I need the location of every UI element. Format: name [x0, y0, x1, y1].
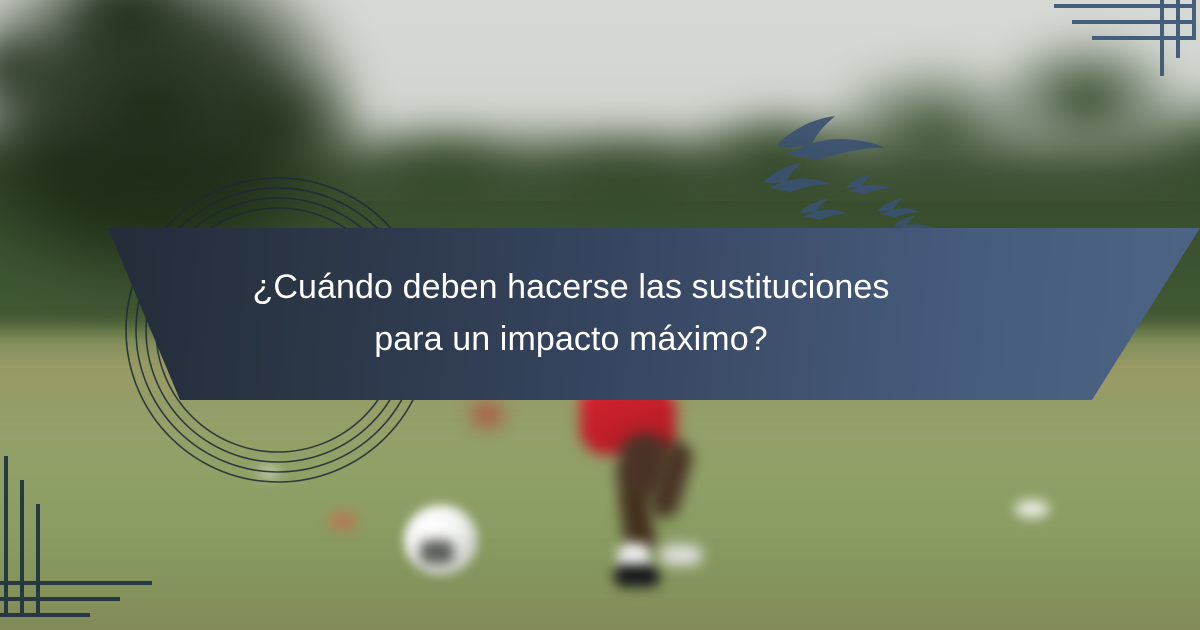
corner-bracket-top-right	[1020, 0, 1200, 96]
bird-icon	[878, 198, 922, 217]
headline-line-2: para un impacto máximo?	[374, 314, 767, 366]
bird-icon	[776, 116, 885, 160]
player-back-boot	[660, 545, 702, 565]
banner-text-block: ¿Cuándo deben hacerse las sustituciones …	[0, 228, 1200, 400]
bird-icon	[800, 199, 849, 220]
field-marker-right	[1015, 500, 1049, 518]
bird-icon	[763, 163, 832, 193]
field-marker-left	[258, 466, 280, 478]
training-cone	[330, 512, 356, 530]
player-boot	[614, 565, 660, 587]
headline-line-1: ¿Cuándo deben hacerse las sustituciones	[252, 262, 889, 314]
birds-decoration	[762, 122, 952, 238]
bird-icon	[846, 174, 892, 194]
headline-banner: ¿Cuándo deben hacerse las sustituciones …	[0, 228, 1200, 400]
soccer-ball-panel	[420, 540, 454, 564]
corner-bracket-bottom-left	[0, 440, 180, 630]
background-blur-spot	[470, 402, 504, 428]
poster-canvas: ¿Cuándo deben hacerse las sustituciones …	[0, 0, 1200, 630]
